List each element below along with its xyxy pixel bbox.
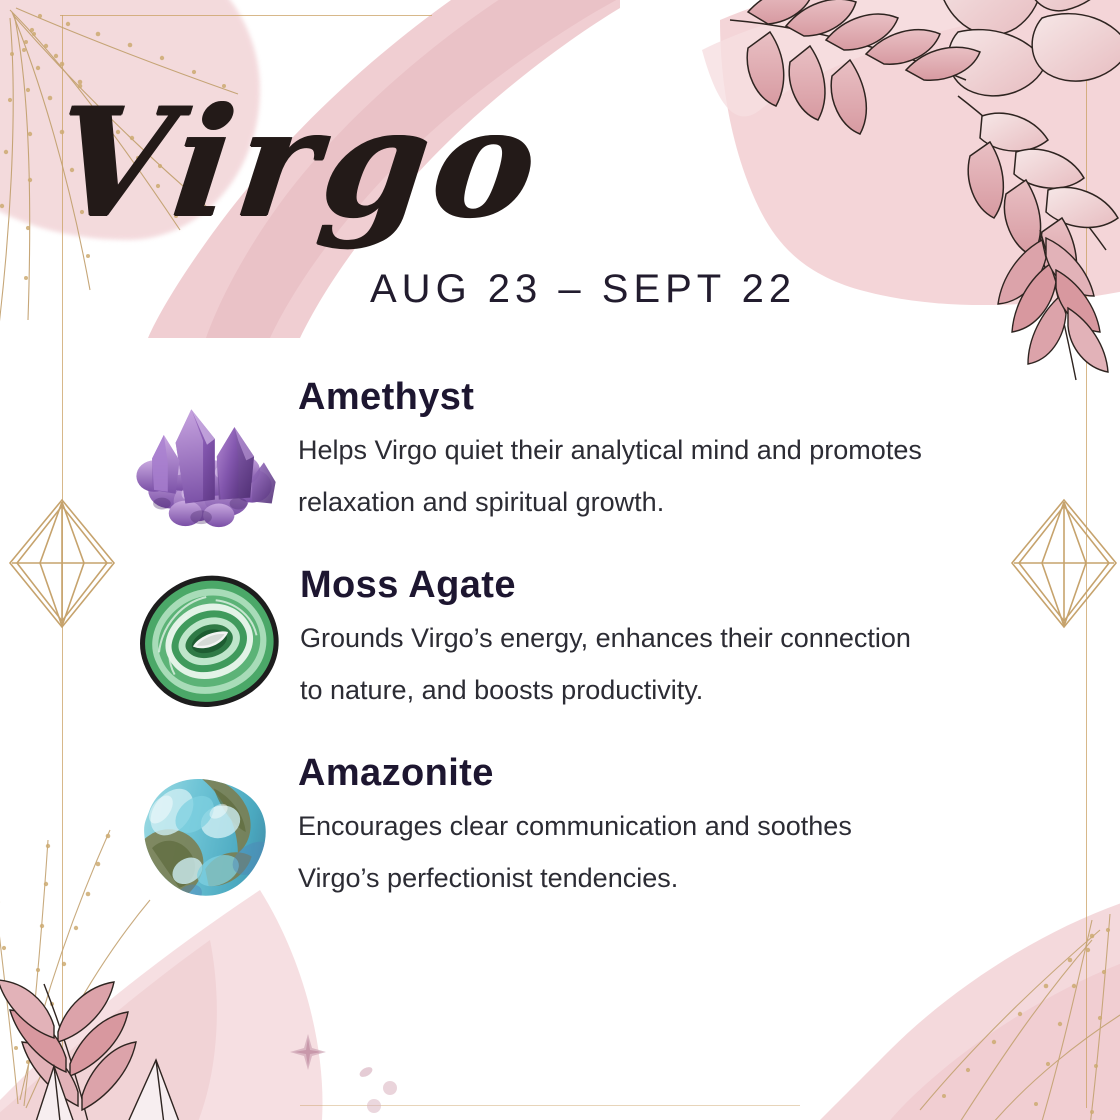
stone-name: Amethyst <box>298 376 998 420</box>
moss-agate-slice-icon <box>134 570 286 712</box>
stone-list: Amethyst Helps Virgo quiet their analyti… <box>0 376 1120 940</box>
list-item: Amethyst Helps Virgo quiet their analyti… <box>0 376 1120 564</box>
stone-name: Moss Agate <box>300 564 1000 608</box>
zodiac-crystal-poster: Virgo AUG 23 – SEPT 22 <box>0 0 1120 1120</box>
page-title: Virgo <box>46 92 783 235</box>
stone-text-block: Amazonite Encourages clear communication… <box>298 752 998 905</box>
stone-text-block: Moss Agate Grounds Virgo’s energy, enhan… <box>300 564 1000 717</box>
date-range: AUG 23 – SEPT 22 <box>370 267 796 312</box>
list-item: Moss Agate Grounds Virgo’s energy, enhan… <box>0 564 1120 752</box>
amethyst-crystal-cluster-icon <box>128 380 286 532</box>
amazonite-tumbled-stone-icon <box>132 758 290 906</box>
mauve-dot-accents <box>352 1060 422 1120</box>
title-block: Virgo AUG 23 – SEPT 22 <box>55 92 775 235</box>
pink-leaf-line-art-bottom-left <box>0 950 290 1120</box>
list-item: Amazonite Encourages clear communication… <box>0 752 1120 940</box>
stone-description: Encourages clear communication and sooth… <box>298 800 938 905</box>
frame-line-top <box>60 15 432 16</box>
stone-name: Amazonite <box>298 752 998 796</box>
stone-description: Helps Virgo quiet their analytical mind … <box>298 424 938 529</box>
stone-description: Grounds Virgo’s energy, enhances their c… <box>300 612 940 717</box>
stone-text-block: Amethyst Helps Virgo quiet their analyti… <box>298 376 998 529</box>
frame-line-bottom <box>300 1105 800 1106</box>
mauve-star-accent <box>288 1032 328 1072</box>
